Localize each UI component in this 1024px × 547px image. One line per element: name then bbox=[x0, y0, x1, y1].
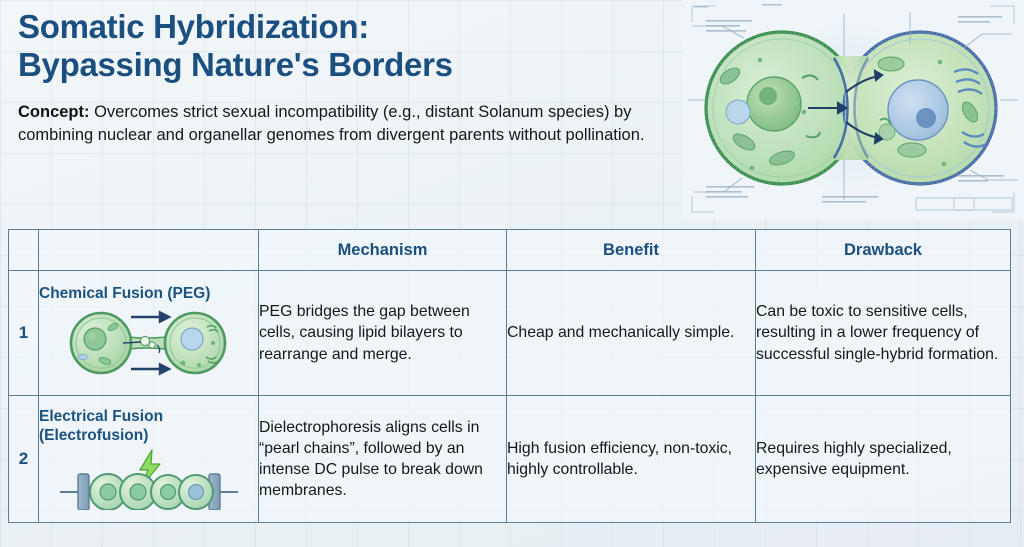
benefit-cell: High fusion efficiency, non-toxic, highl… bbox=[507, 396, 756, 523]
row-index: 2 bbox=[9, 396, 39, 523]
drawback-cell: Requires highly specialized, expensive e… bbox=[756, 396, 1011, 523]
hero-illustration bbox=[682, 0, 1024, 220]
table-row: 1 Chemical Fusion (PEG) bbox=[9, 271, 1011, 396]
cell-fusion-hero-svg bbox=[682, 0, 1024, 220]
peg-cell-fusion-diagram bbox=[39, 305, 258, 381]
col-header-mechanism: Mechanism bbox=[259, 230, 507, 271]
benefit-cell: Cheap and mechanically simple. bbox=[507, 271, 756, 396]
row-index: 1 bbox=[9, 271, 39, 396]
method-label: Chemical Fusion (PEG) bbox=[39, 285, 258, 304]
table-header-row: Mechanism Benefit Drawback bbox=[9, 230, 1011, 271]
col-header-index bbox=[9, 230, 39, 271]
header-block: Somatic Hybridization: Bypassing Nature'… bbox=[18, 8, 678, 147]
drawback-cell: Can be toxic to sensitive cells, resulti… bbox=[756, 271, 1011, 396]
mechanism-cell: PEG bridges the gap between cells, causi… bbox=[259, 271, 507, 396]
table-row: 2 Electrical Fusion (Electrofusion) bbox=[9, 396, 1011, 523]
electrode-left bbox=[78, 474, 89, 510]
method-label: Electrical Fusion (Electrofusion) bbox=[39, 408, 258, 446]
col-header-method bbox=[39, 230, 259, 271]
page-title: Somatic Hybridization: Bypassing Nature'… bbox=[18, 8, 678, 85]
concept-text: Overcomes strict sexual incompatibility … bbox=[18, 103, 644, 144]
infographic-page: Somatic Hybridization: Bypassing Nature'… bbox=[0, 0, 1024, 547]
electrofusion-pearl-chain-diagram bbox=[39, 448, 258, 510]
col-header-benefit: Benefit bbox=[507, 230, 756, 271]
peg-fusion-svg bbox=[61, 305, 237, 381]
method-name-cell: Electrical Fusion (Electrofusion) bbox=[39, 396, 259, 523]
method-name-cell: Chemical Fusion (PEG) bbox=[39, 271, 259, 396]
mechanism-cell: Dielectrophoresis aligns cells in “pearl… bbox=[259, 396, 507, 523]
concept-label: Concept: bbox=[18, 103, 90, 121]
electrofusion-svg bbox=[56, 448, 242, 510]
pearl-chain bbox=[90, 474, 213, 510]
concept-paragraph: Concept: Overcomes strict sexual incompa… bbox=[18, 101, 678, 148]
methods-table: Mechanism Benefit Drawback 1 Chemical Fu… bbox=[8, 229, 1011, 523]
col-header-drawback: Drawback bbox=[756, 230, 1011, 271]
